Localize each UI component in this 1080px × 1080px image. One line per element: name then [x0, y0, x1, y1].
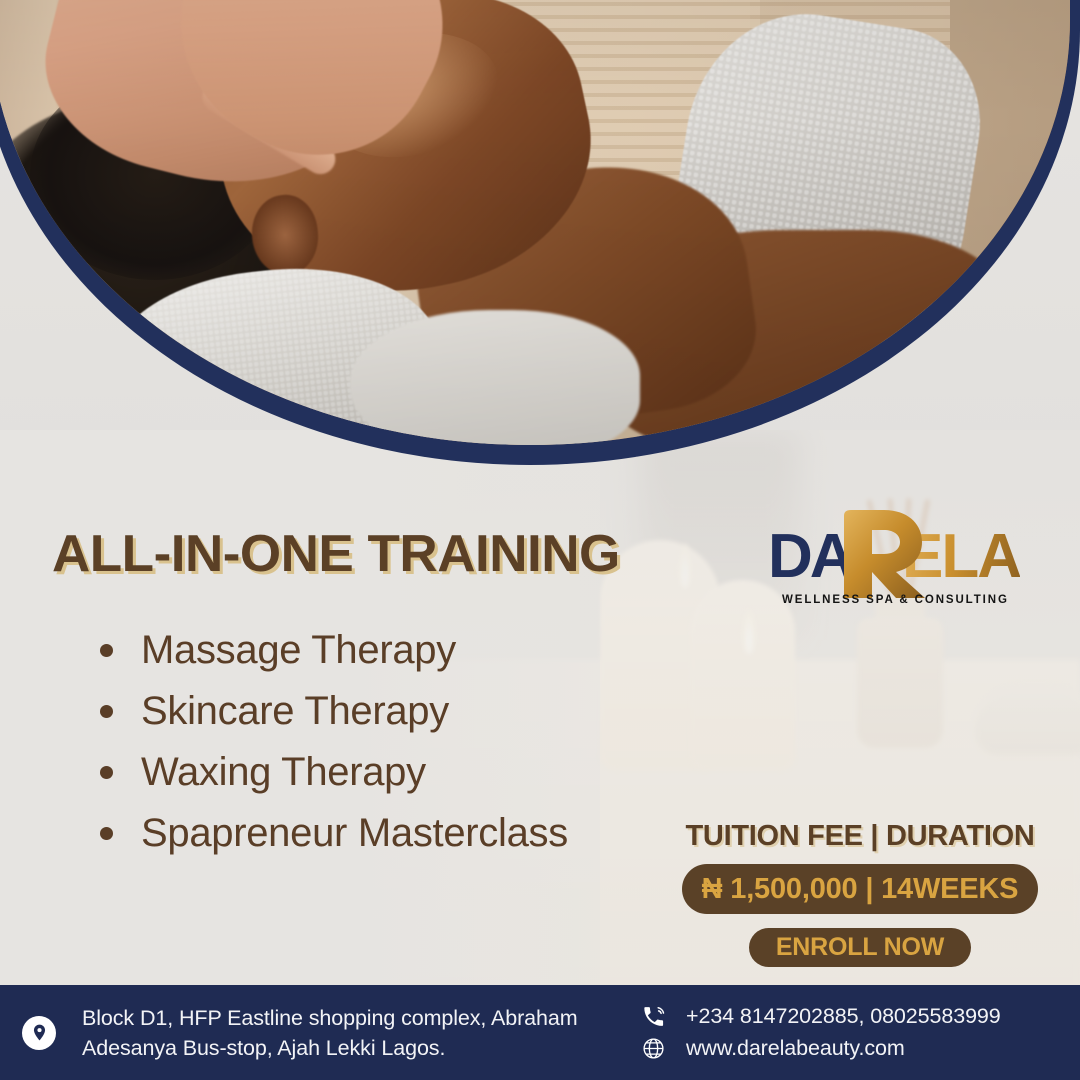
list-item: Skincare Therapy — [100, 681, 700, 742]
logo-tagline: WELLNESS SPA & CONSULTING — [782, 594, 1009, 606]
hero-section — [0, 0, 1080, 470]
phone-row[interactable]: +234 8147202885, 08025583999 — [640, 1004, 1001, 1029]
bullet-icon — [100, 644, 113, 657]
poster-root: ALL-IN-ONE TRAINING DA ELA WELLNESS SPA … — [0, 0, 1080, 1080]
contact-footer: Block D1, HFP Eastline shopping complex,… — [0, 985, 1080, 1080]
list-item: Waxing Therapy — [100, 742, 700, 803]
bullet-icon — [100, 705, 113, 718]
globe-icon — [640, 1036, 666, 1061]
footer-address-group: Block D1, HFP Eastline shopping complex,… — [0, 1003, 640, 1063]
service-label: Waxing Therapy — [141, 750, 426, 795]
facial-massage-photo — [0, 0, 1070, 445]
location-pin-icon — [22, 1016, 56, 1050]
services-list: Massage Therapy Skincare Therapy Waxing … — [100, 620, 700, 864]
website-row[interactable]: www.darelabeauty.com — [640, 1036, 1001, 1061]
website-text: www.darelabeauty.com — [686, 1036, 905, 1061]
brand-logo: DA ELA WELLNESS SPA & CONSULTING — [760, 512, 1022, 622]
enroll-now-button[interactable]: ENROLL NOW — [749, 928, 971, 967]
page-title: ALL-IN-ONE TRAINING — [52, 524, 620, 584]
phone-icon — [640, 1004, 666, 1029]
tuition-title: TUITION FEE | DURATION — [660, 820, 1060, 853]
price-duration-badge: ₦ 1,500,000 | 14WEEKS — [682, 864, 1038, 914]
bullet-icon — [100, 827, 113, 840]
bullet-icon — [100, 766, 113, 779]
service-label: Skincare Therapy — [141, 689, 449, 734]
list-item: Spapreneur Masterclass — [100, 803, 700, 864]
tuition-block: TUITION FEE | DURATION ₦ 1,500,000 | 14W… — [660, 820, 1060, 967]
list-item: Massage Therapy — [100, 620, 700, 681]
service-label: Spapreneur Masterclass — [141, 811, 568, 856]
logo-r-mark-icon — [822, 508, 930, 600]
service-label: Massage Therapy — [141, 628, 456, 673]
hero-photo-clip — [0, 0, 1070, 445]
footer-contact-group: +234 8147202885, 08025583999 www.darelab… — [640, 1004, 1001, 1061]
address-text: Block D1, HFP Eastline shopping complex,… — [82, 1003, 640, 1063]
phone-text: +234 8147202885, 08025583999 — [686, 1004, 1001, 1029]
